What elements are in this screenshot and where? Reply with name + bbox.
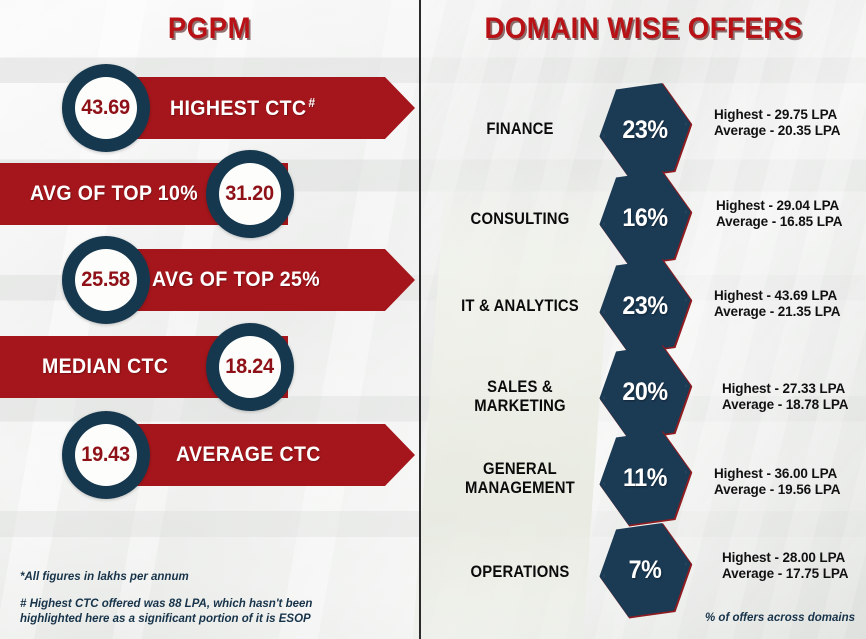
ctc-circle: 18.24 [206,323,294,411]
domain-percent: 7% [602,524,688,616]
domain-average: Average - 18.78 LPA [722,397,848,413]
domain-label: FINANCE [448,120,592,139]
domain-percent: 23% [602,260,688,352]
domain-highest: Highest - 27.33 LPA [722,381,848,397]
domain-percent: 20% [602,346,688,438]
domain-hexagon: 23% [599,84,691,176]
domain-highest: Highest - 28.00 LPA [722,550,848,566]
footnote-all-figures: *All figures in lakhs per annum [20,570,189,585]
ctc-row: AVG OF TOP 10% 31.20 [0,163,419,225]
ctc-circle-inner: 19.43 [75,424,137,486]
domain-stats: Highest - 36.00 LPA Average - 19.56 LPA [714,466,840,498]
domain-stats: Highest - 29.75 LPA Average - 20.35 LPA [714,107,840,139]
domain-average: Average - 19.56 LPA [714,482,840,498]
ctc-circle-inner: 18.24 [219,336,281,398]
ctc-circle: 19.43 [62,411,150,499]
ctc-circle-inner: 31.20 [219,163,281,225]
ctc-row: AVG OF TOP 25% 25.58 [0,249,419,311]
ctc-label: AVERAGE CTC [176,443,321,467]
domain-label: IT & ANALYTICS [448,297,592,316]
ctc-bar: HIGHEST CTC# [104,77,415,139]
domain-average: Average - 16.85 LPA [716,214,842,230]
domain-average: Average - 17.75 LPA [722,566,848,582]
ctc-circle: 43.69 [62,64,150,152]
domain-percent: 16% [602,172,688,264]
domain-percent: 11% [602,432,688,524]
domain-label: SALES & MARKETING [448,378,592,416]
domain-hexagon: 7% [599,524,691,616]
domain-highest: Highest - 29.75 LPA [714,107,840,123]
ctc-value: 31.20 [226,182,275,206]
ctc-circle-inner: 25.58 [75,249,137,311]
panel-divider [419,0,421,639]
domain-label: CONSULTING [448,210,592,229]
domain-label: OPERATIONS [448,563,592,582]
domain-highest: Highest - 29.04 LPA [716,198,842,214]
ctc-value: 25.58 [82,268,131,292]
domain-label: GENERAL MANAGEMENT [448,460,592,498]
ctc-bar: AVERAGE CTC [104,424,415,486]
left-panel-title: PGPM [17,12,402,46]
ctc-value: 43.69 [82,96,131,120]
ctc-bar: AVG OF TOP 25% [104,249,415,311]
ctc-row: HIGHEST CTC# 43.69 [0,77,419,139]
domain-stats: Highest - 29.04 LPA Average - 16.85 LPA [716,198,842,230]
ctc-label: MEDIAN CTC [42,355,168,379]
domain-hexagon: 11% [599,432,691,524]
ctc-circle: 31.20 [206,150,294,238]
domain-stats: Highest - 43.69 LPA Average - 21.35 LPA [714,288,840,320]
domain-hexagon: 23% [599,260,691,352]
domain-percent: 23% [602,84,688,176]
right-panel-title: DOMAIN WISE OFFERS [439,12,848,46]
domain-stats: Highest - 28.00 LPA Average - 17.75 LPA [722,550,848,582]
ctc-circle-inner: 43.69 [75,77,137,139]
ctc-value: 18.24 [226,355,275,379]
ctc-row: MEDIAN CTC 18.24 [0,336,419,398]
footnote-highest-ctc: # Highest CTC offered was 88 LPA, which … [20,597,350,627]
domain-highest: Highest - 43.69 LPA [714,288,840,304]
domain-average: Average - 21.35 LPA [714,304,840,320]
ctc-circle: 25.58 [62,236,150,324]
domain-highest: Highest - 36.00 LPA [714,466,840,482]
domain-hexagon: 16% [599,172,691,264]
domain-average: Average - 20.35 LPA [714,123,840,139]
footnote-marker: # [308,95,315,110]
infographic-canvas: PGPM DOMAIN WISE OFFERS HIGHEST CTC# 43.… [0,0,866,639]
ctc-label: AVG OF TOP 10% [30,182,198,206]
ctc-label: HIGHEST CTC# [170,95,315,121]
right-panel-caption: % of offers across domains [560,612,855,624]
domain-hexagon: 20% [599,346,691,438]
domain-stats: Highest - 27.33 LPA Average - 18.78 LPA [722,381,848,413]
ctc-value: 19.43 [82,443,131,467]
ctc-label: AVG OF TOP 25% [152,268,320,292]
ctc-row: AVERAGE CTC 19.43 [0,424,419,486]
